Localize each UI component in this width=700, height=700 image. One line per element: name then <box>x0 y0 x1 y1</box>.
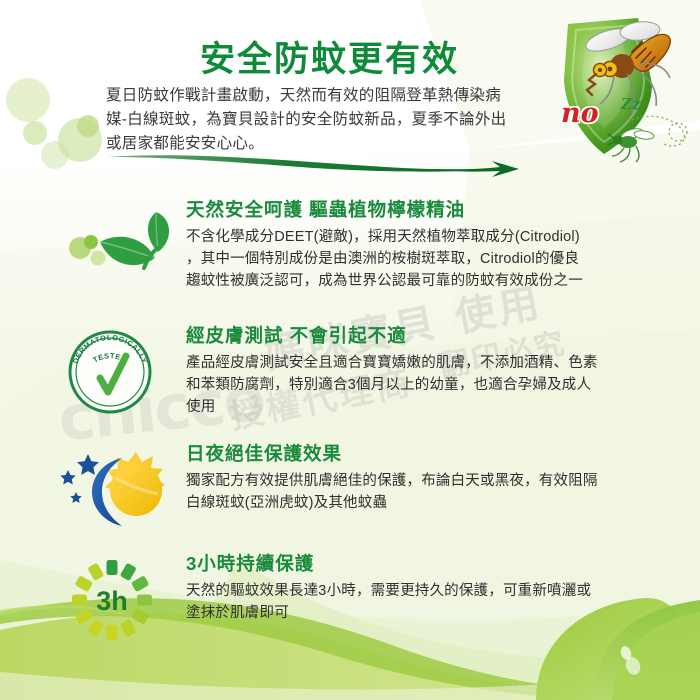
feature-line: 和苯類防腐劑，特別適合3個月以上的幼童，也適合孕婦及成人 <box>186 374 691 396</box>
feature-line: 天然的驅蚊效果長達3小時，需要更持久的保護，可重新噴灑或 <box>186 580 691 602</box>
feature-heading-1: 天然安全呵護 驅蟲植物檸檬精油 <box>186 196 691 222</box>
feature-body-3: 日夜絕佳保護效果 獨家配方有效提供肌膚絕佳的保護，布論白天或黑夜，有效阻隔 白線… <box>186 440 691 514</box>
dial-label: 3h <box>96 586 128 616</box>
feature-line: 使用 <box>186 396 691 418</box>
feature-line: 趨蚊性被廣泛認可，成為世界公認最可靠的防蚊有效成份之一 <box>186 270 691 292</box>
feature-heading-3: 日夜絕佳保護效果 <box>186 440 691 466</box>
feature-line: ，其中一個特別成份是由澳洲的桉樹斑萃取，Citrodiol的優良 <box>186 248 691 270</box>
feature-line: 白線斑蚊(亞洲虎蚊)及其他蚊蟲 <box>186 492 691 514</box>
sun-moon-icon <box>60 440 185 540</box>
three-hour-dial-icon: 3h <box>60 550 185 650</box>
leaf-icon <box>60 196 185 296</box>
page-title: 安全防蚊更有效 <box>200 31 459 82</box>
feature-line: 獨家配方有效提供肌膚絕佳的保護，布論白天或黑夜，有效阻隔 <box>186 470 691 492</box>
feature-text-2: 產品經皮膚測試安全且適合寶寶嬌嫩的肌膚，不添加酒精、色素 和苯類防腐劑，特別適合… <box>186 352 691 418</box>
feature-heading-2: 經皮膚測試 不會引起不適 <box>186 322 691 348</box>
feature-line: 塗抹於肌膚即可 <box>186 602 691 624</box>
feature-body-4: 3小時持續保護 天然的驅蚊效果長達3小時，需要更持久的保護，可重新噴灑或 塗抹於… <box>186 550 691 624</box>
feature-text-1: 不含化學成分DEET(避敵)，採用天然植物萃取成分(Citrodiol) ，其中… <box>186 226 691 292</box>
feature-line: 不含化學成分DEET(避敵)，採用天然植物萃取成分(Citrodiol) <box>186 226 691 248</box>
feature-text-3: 獨家配方有效提供肌膚絕佳的保護，布論白天或黑夜，有效阻隔 白線斑蚊(亞洲虎蚊)及… <box>186 470 691 514</box>
zz-label: Zz <box>621 95 640 113</box>
feature-body-2: 經皮膚測試 不會引起不適 產品經皮膚測試安全且適合寶寶嬌嫩的肌膚，不添加酒精、色… <box>186 322 691 418</box>
poster-root: 媽咪寶貝 使用 授權代理商 翻印必究 chicco 安全防蚊更有效 夏日防蚊作戰… <box>0 0 700 700</box>
no-label: no <box>561 98 599 129</box>
feature-text-4: 天然的驅蚊效果長達3小時，需要更持久的保護，可重新噴灑或 塗抹於肌膚即可 <box>186 580 691 624</box>
dermatologically-tested-badge-icon: DERMATOLOGICALLY TESTED <box>60 322 185 422</box>
feature-line: 產品經皮膚測試安全且適合寶寶嬌嫩的肌膚，不添加酒精、色素 <box>186 352 691 374</box>
feature-body-1: 天然安全呵護 驅蟲植物檸檬精油 不含化學成分DEET(避敵)，採用天然植物萃取成… <box>186 196 691 292</box>
feature-heading-4: 3小時持續保護 <box>186 550 691 576</box>
